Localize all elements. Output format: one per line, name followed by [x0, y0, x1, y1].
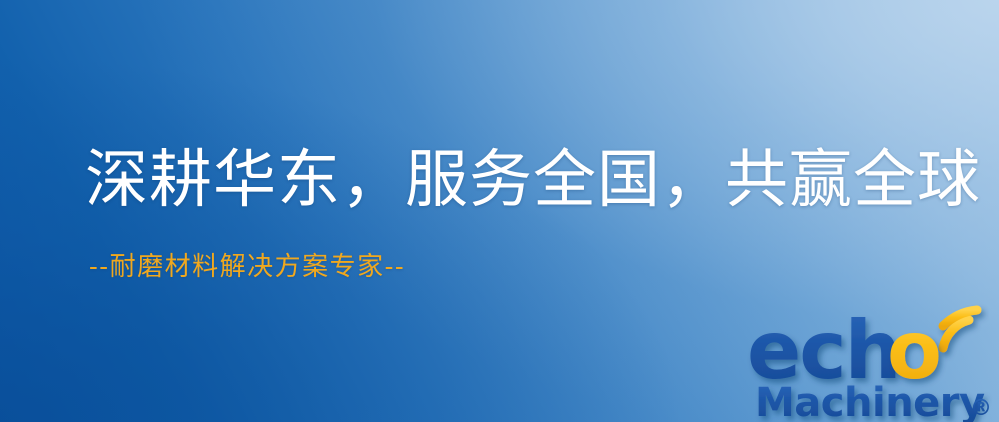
- hero-banner: 深耕华东，服务全国，共赢全球 --耐磨材料解决方案专家--: [0, 0, 999, 422]
- banner-copy-block: 深耕华东，服务全国，共赢全球 --耐磨材料解决方案专家--: [85, 145, 955, 283]
- banner-headline: 深耕华东，服务全国，共赢全球: [85, 145, 955, 216]
- signal-wave-icon: [943, 310, 977, 348]
- banner-subheadline: --耐磨材料解决方案专家--: [89, 246, 955, 283]
- registered-trademark-icon: ®: [970, 396, 992, 421]
- logo-tagline: Machinery: [755, 380, 985, 422]
- echo-machinery-logo[interactable]: ech o Machinery ®: [737, 286, 999, 422]
